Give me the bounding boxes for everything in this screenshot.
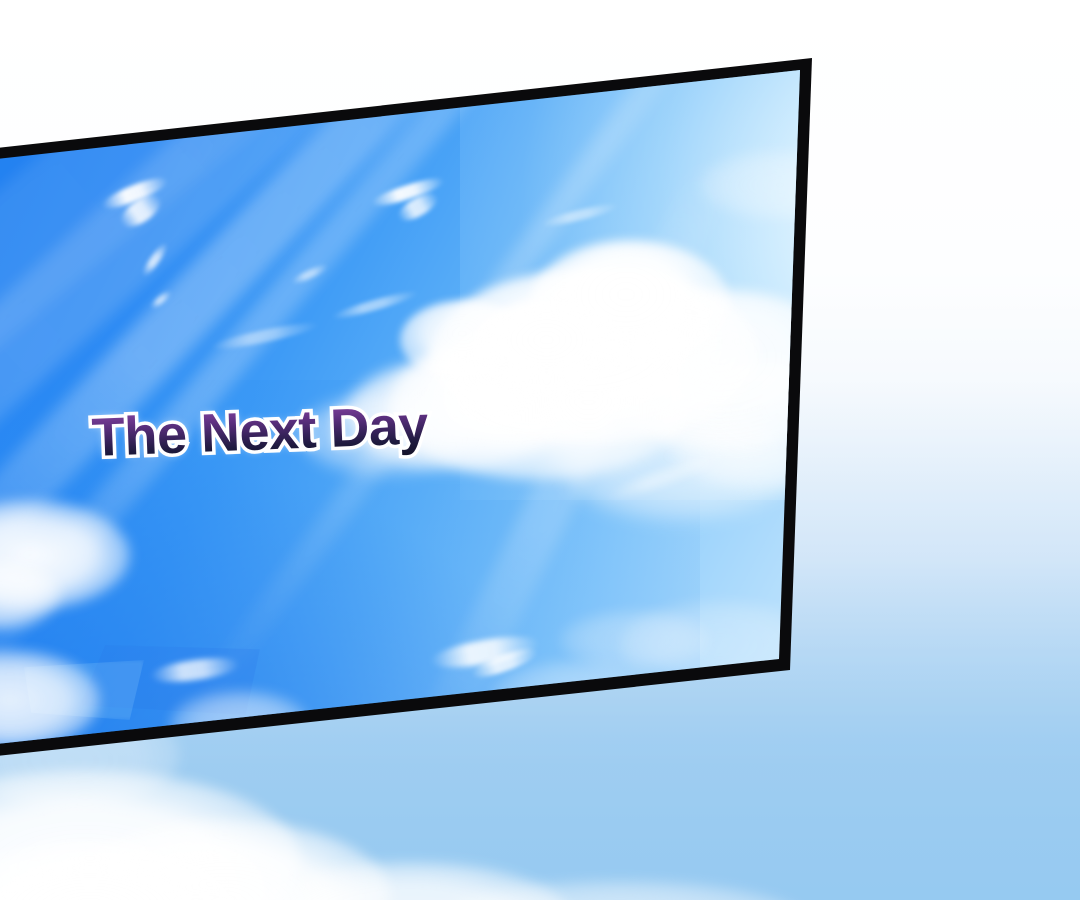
edge-cloud — [560, 610, 710, 670]
comic-page: The Next Day The Next Day — [0, 0, 1080, 900]
cumulus-cloud — [470, 300, 630, 395]
